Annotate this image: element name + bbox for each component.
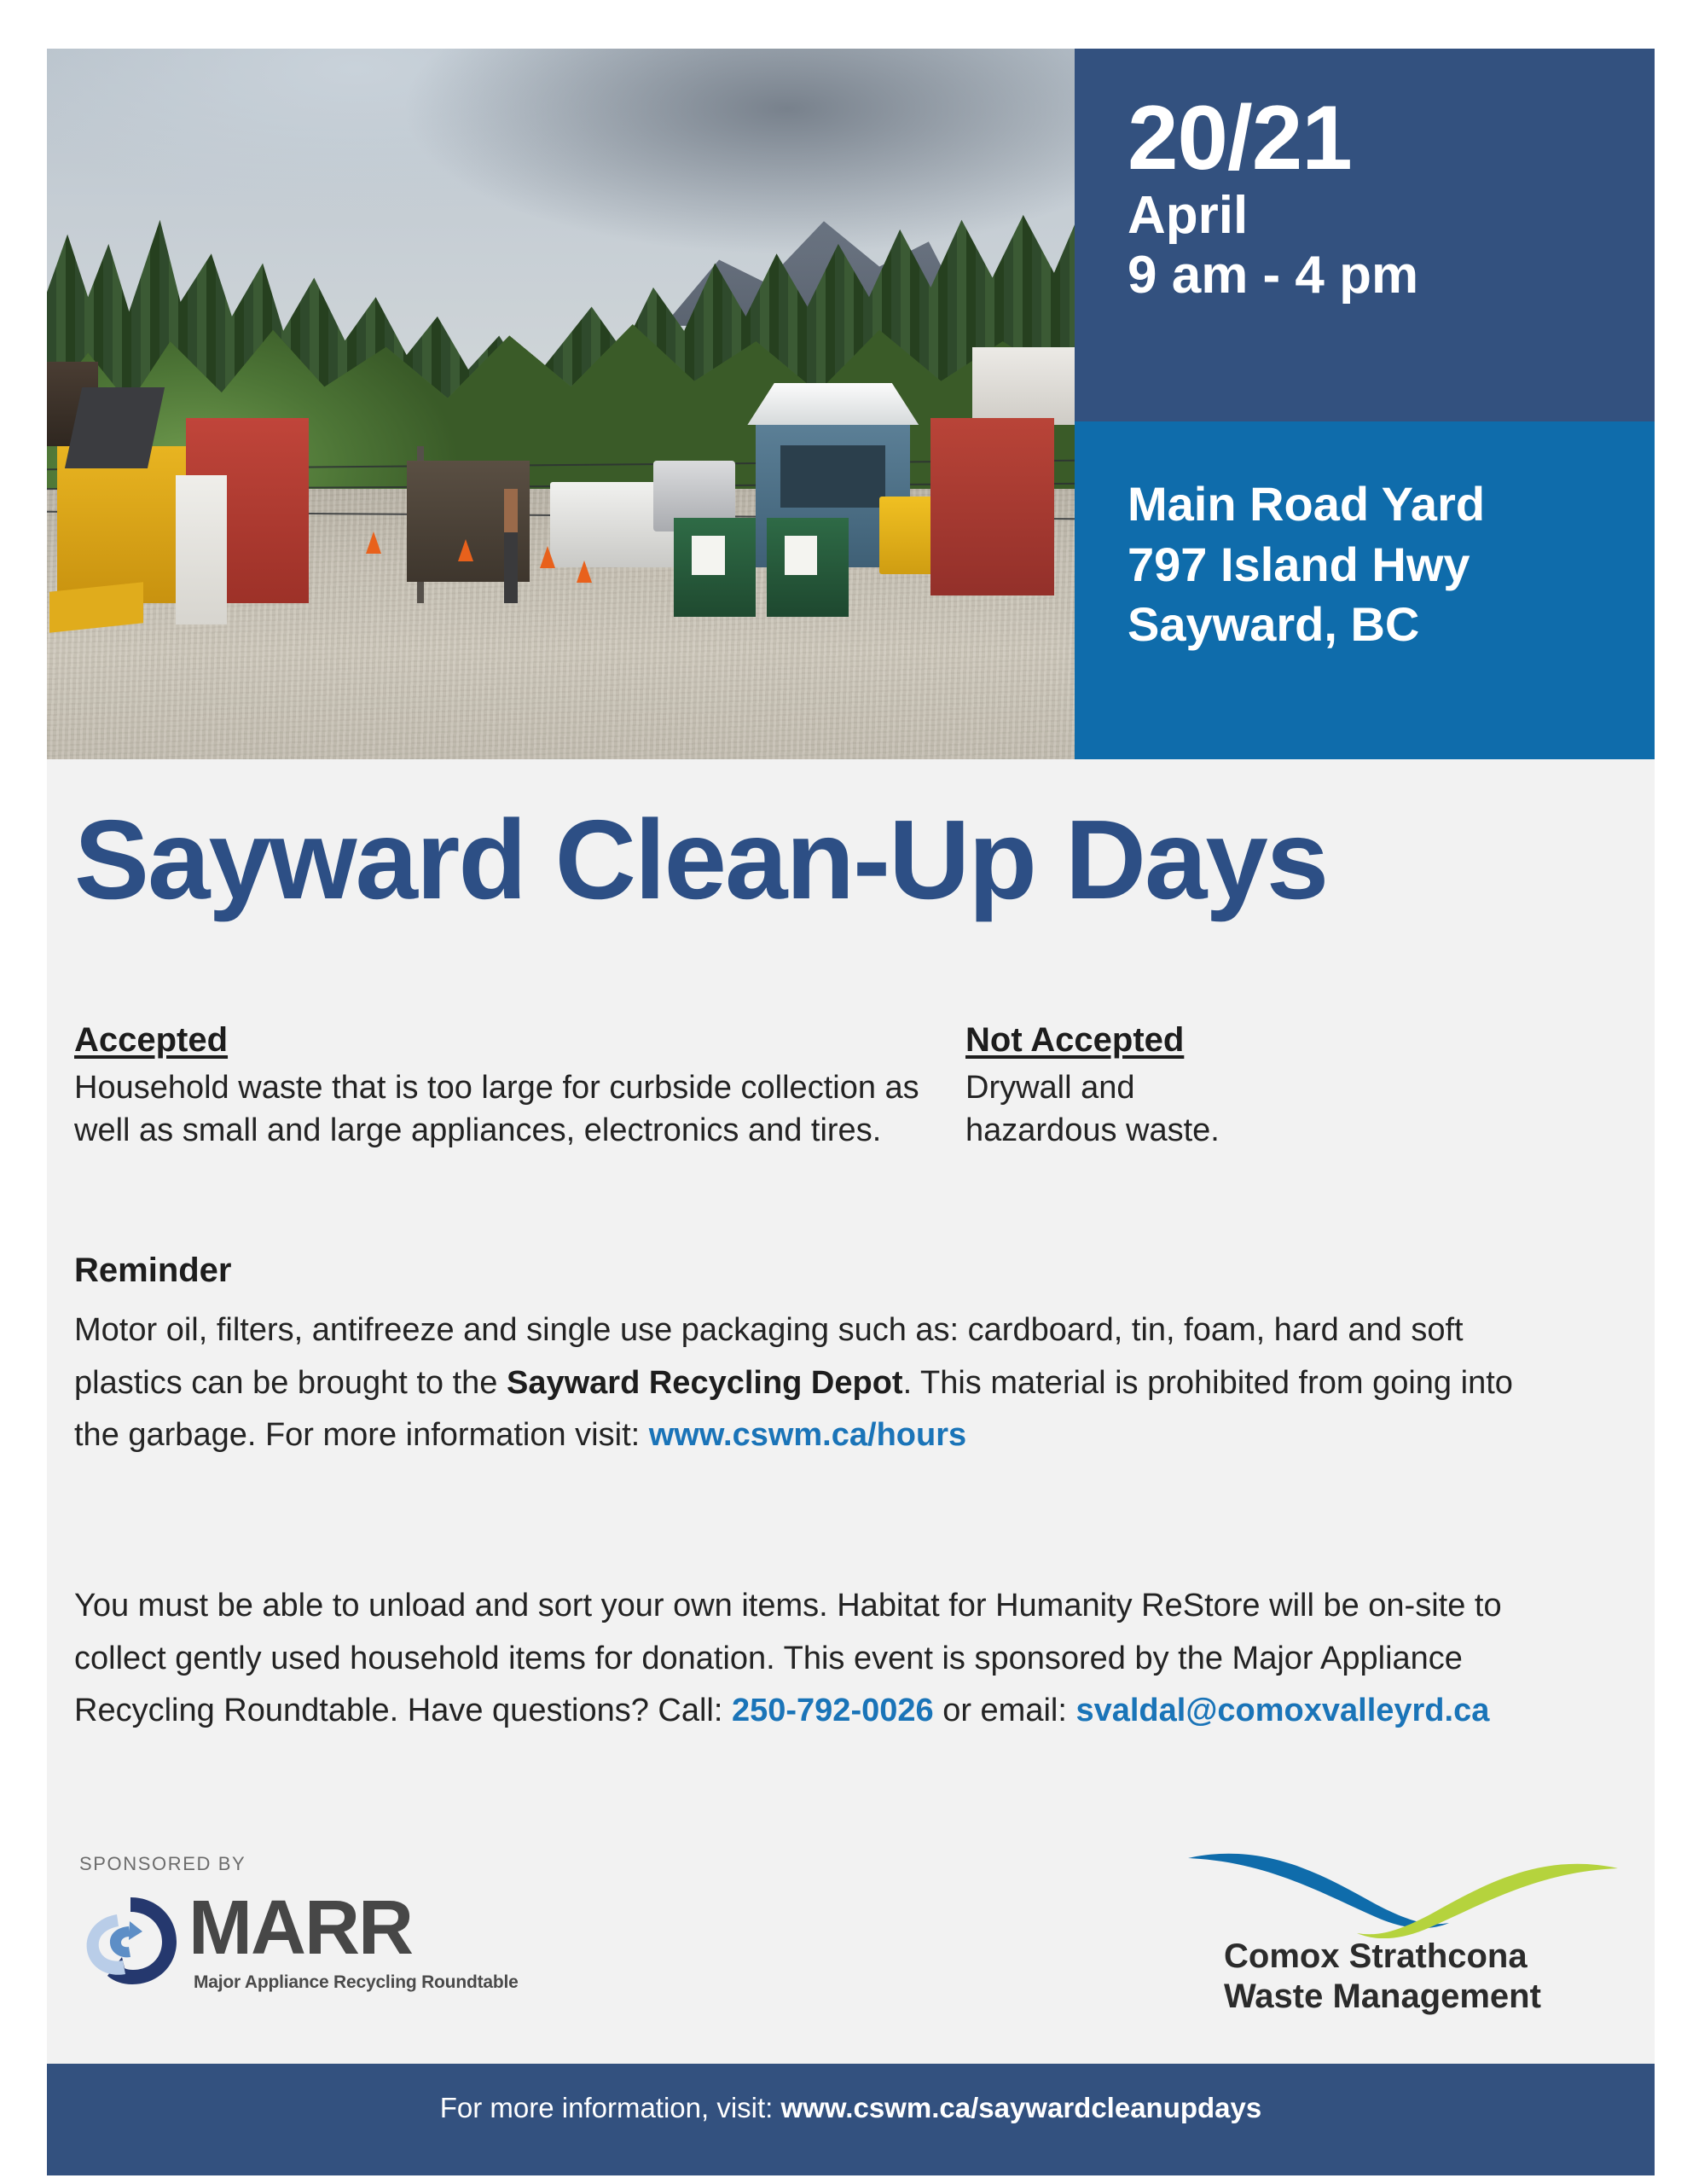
phone-link[interactable]: 250-792-0026 (732, 1693, 934, 1728)
traffic-cone (577, 561, 592, 583)
footer-text: For more information, visit: www.cswm.ca… (47, 2092, 1655, 2124)
page-title: Sayward Clean-Up Days (74, 804, 1626, 916)
email-link[interactable]: svaldal@comoxvalleyrd.ca (1075, 1693, 1489, 1728)
footer-prefix: For more information, visit: (440, 2092, 781, 2123)
accepted-body: Household waste that is too large for cu… (74, 1066, 961, 1152)
not-accepted-heading: Not Accepted (965, 1021, 1247, 1060)
cswm-wave-icon (1173, 1836, 1633, 1938)
event-date-panel: 20/21 April 9 am - 4 pm (1075, 49, 1655, 421)
organization-name-line-2: Waste Management (1224, 1977, 1541, 2017)
event-address-panel: Main Road Yard 797 Island Hwy Sayward, B… (1075, 421, 1655, 759)
traffic-cone (540, 546, 555, 568)
accepted-heading: Accepted (74, 1021, 961, 1060)
worker (504, 489, 518, 602)
green-waste-bin (767, 518, 849, 618)
reminder-body: Motor oil, filters, antifreeze and singl… (74, 1304, 1516, 1462)
excavator (57, 446, 191, 602)
site-photograph (47, 49, 1075, 759)
marr-wordmark: MARR (188, 1892, 412, 1966)
marr-swirl-icon (79, 1892, 182, 1988)
footer-url[interactable]: www.cswm.ca/saywardcleanupdays (781, 2092, 1262, 2123)
venue-street: 797 Island Hwy (1128, 535, 1634, 595)
hero-section: 20/21 April 9 am - 4 pm Main Road Yard 7… (47, 49, 1655, 759)
details-paragraph: You must be able to unload and sort your… (74, 1580, 1601, 1738)
organization-name-line-1: Comox Strathcona (1224, 1937, 1541, 1977)
red-dumpster-right (930, 418, 1054, 595)
sponsor-logo-block: SPONSORED BY MARR Major Appliance Recycl… (79, 1853, 557, 2024)
footer-bar: For more information, visit: www.cswm.ca… (47, 2064, 1655, 2175)
organization-name: Comox Strathcona Waste Management (1224, 1937, 1541, 2017)
sponsored-by-label: SPONSORED BY (79, 1853, 557, 1875)
green-waste-bin (674, 518, 756, 618)
details-text-part-2: or email: (934, 1693, 1076, 1728)
hours-link[interactable]: www.cswm.ca/hours (649, 1417, 966, 1453)
accepted-column: Accepted Household waste that is too lar… (74, 1021, 961, 1152)
poster: 20/21 April 9 am - 4 pm Main Road Yard 7… (47, 49, 1655, 2132)
venue-city: Sayward, BC (1128, 595, 1634, 655)
event-month: April (1128, 186, 1629, 245)
traffic-cone (366, 531, 381, 554)
event-hours: 9 am - 4 pm (1128, 246, 1629, 305)
marr-tagline: Major Appliance Recycling Roundtable (194, 1972, 519, 1993)
reminder-heading: Reminder (74, 1252, 232, 1290)
white-appliance-panel (176, 475, 227, 624)
traffic-cone (458, 539, 473, 561)
not-accepted-body: Drywall and hazardous waste. (965, 1066, 1247, 1152)
not-accepted-column: Not Accepted Drywall and hazardous waste… (965, 1021, 1247, 1152)
event-dates: 20/21 (1128, 91, 1629, 184)
venue-name: Main Road Yard (1128, 474, 1634, 535)
recycling-depot-name: Sayward Recycling Depot (507, 1365, 903, 1401)
organization-logo-block: Comox Strathcona Waste Management (1173, 1836, 1633, 2032)
trailer-home (972, 347, 1075, 426)
